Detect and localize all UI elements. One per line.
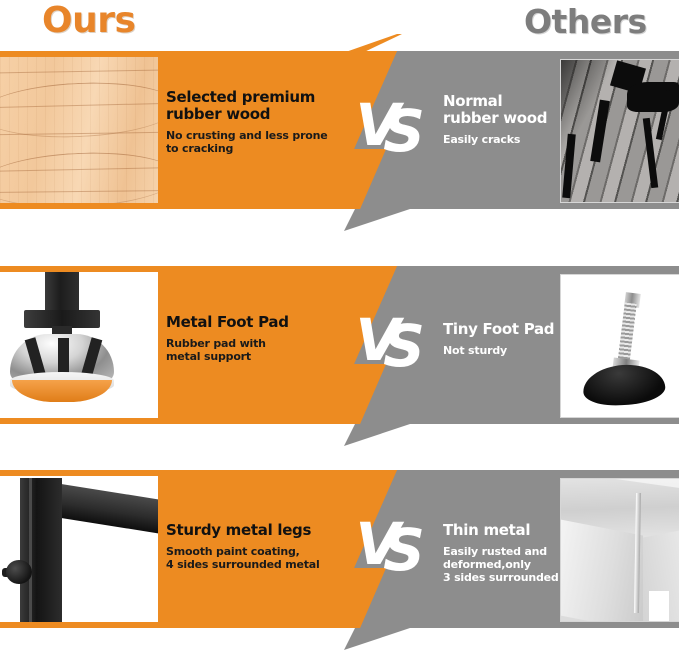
others-title-2: Tiny Foot Pad	[443, 321, 573, 338]
header-others-label: Others	[524, 2, 647, 41]
ours-subtitle-3: Smooth paint coating, 4 sides surrounded…	[166, 545, 338, 571]
thin-metal-corner-icon	[561, 479, 679, 621]
others-text-3: Thin metal Easily rusted and deformed,on…	[443, 522, 573, 584]
ours-image-3	[0, 476, 158, 622]
ours-title-2: Metal Foot Pad	[166, 314, 338, 331]
cracked-wood-icon	[561, 60, 679, 202]
ours-subtitle-2: Rubber pad with metal support	[166, 337, 338, 363]
others-subtitle-3: Easily rusted and deformed,only 3 sides …	[443, 545, 573, 584]
ours-title-1: Selected premium rubber wood	[166, 89, 338, 123]
tiny-foot-pad-icon	[561, 275, 679, 417]
others-image-1	[560, 59, 679, 203]
others-subtitle-1: Easily cracks	[443, 133, 573, 146]
ours-image-2	[0, 272, 158, 418]
others-text-2: Tiny Foot Pad Not sturdy	[443, 321, 573, 357]
premium-rubber-wood-icon	[0, 57, 158, 203]
ours-title-3: Sturdy metal legs	[166, 522, 338, 539]
header-ours-label: Ours	[42, 0, 135, 41]
ours-text-2: Metal Foot Pad Rubber pad with metal sup…	[166, 314, 338, 363]
others-text-1: Normal rubber wood Easily cracks	[443, 93, 573, 146]
others-title-3: Thin metal	[443, 522, 573, 539]
others-subtitle-2: Not sturdy	[443, 344, 573, 357]
comparison-row-1: Selected premium rubber wood No crusting…	[0, 51, 679, 209]
comparison-row-2: Metal Foot Pad Rubber pad with metal sup…	[0, 266, 679, 424]
metal-foot-pad-icon	[0, 272, 158, 418]
others-title-1: Normal rubber wood	[443, 93, 573, 127]
others-image-2	[560, 274, 679, 418]
others-tail-3	[340, 628, 410, 650]
ours-text-3: Sturdy metal legs Smooth paint coating, …	[166, 522, 338, 571]
others-tail-2	[340, 424, 410, 446]
comparison-row-3: Sturdy metal legs Smooth paint coating, …	[0, 470, 679, 628]
others-image-3	[560, 478, 679, 622]
ours-subtitle-1: No crusting and less prone to cracking	[166, 129, 338, 155]
ours-image-1	[0, 57, 158, 203]
ours-text-1: Selected premium rubber wood No crusting…	[166, 89, 338, 155]
sturdy-metal-leg-icon	[0, 476, 158, 622]
others-tail-1	[340, 209, 410, 231]
